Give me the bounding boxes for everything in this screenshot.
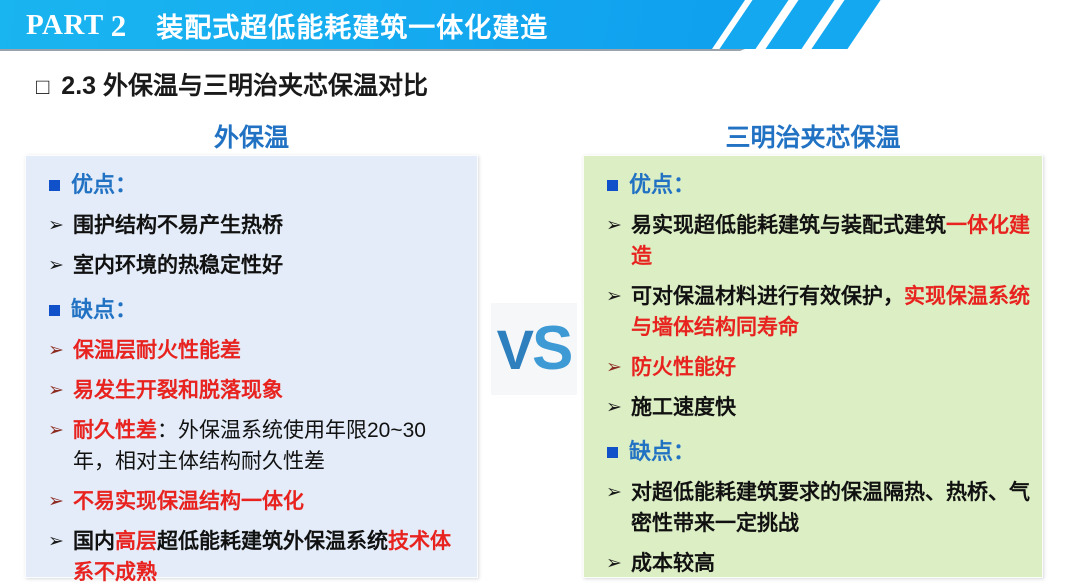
text-segment: 成本较高 <box>631 552 715 575</box>
list-item-text: 施工速度快 <box>631 392 736 423</box>
page-header: PART 2 装配式超低能耗建筑一体化建造 <box>0 0 1080 50</box>
arrow-bullet-icon: ➢ <box>605 392 623 423</box>
list-item-text: 易发生开裂和脱落现象 <box>73 375 283 406</box>
right-comparison-panel: 优点：➢易实现超低能耗建筑与装配式建筑一体化建造➢可对保温材料进行有效保护，实现… <box>583 155 1043 578</box>
group-heading-row: 优点： <box>38 170 467 200</box>
list-item-text: 保温层耐火性能差 <box>73 335 241 366</box>
group-heading-row: 缺点： <box>38 295 467 325</box>
list-item-text: 对超低能耗建筑要求的保温隔热、热桥、气密性带来一定挑战 <box>631 477 1032 539</box>
text-segment: 围护结构不易产生热桥 <box>73 214 283 237</box>
list-item-text: 室内环境的热稳定性好 <box>73 250 283 281</box>
list-item: ➢成本较高 <box>596 548 1032 579</box>
text-segment: 超低能耗建筑外保温系统 <box>157 530 388 553</box>
group-heading-label: 缺点： <box>629 437 695 467</box>
versus-badge: VS <box>491 303 577 395</box>
arrow-bullet-icon: ➢ <box>47 486 65 517</box>
versus-label: VS <box>497 318 572 380</box>
arrow-bullet-icon: ➢ <box>605 210 623 241</box>
list-item-text: 成本较高 <box>631 548 715 579</box>
part-number: 2 <box>111 8 127 44</box>
text-segment: 对超低能耗建筑要求的保温隔热、热桥、气密性带来一定挑战 <box>631 481 1030 535</box>
text-segment: 保温层耐火性能差 <box>73 339 241 362</box>
list-item-text: 可对保温材料进行有效保护，实现保温系统与墙体结构同寿命 <box>631 281 1032 343</box>
square-bullet-icon <box>49 305 60 316</box>
header-title-text: 装配式超低能耗建筑一体化建造 <box>156 6 548 45</box>
section-heading: □2.3 外保温与三明治夹芯保温对比 <box>36 66 428 102</box>
group-heading-label: 缺点： <box>71 295 137 325</box>
header-stripes-decoration <box>716 0 896 49</box>
square-bullet-icon <box>607 180 618 191</box>
list-item: ➢对超低能耗建筑要求的保温隔热、热桥、气密性带来一定挑战 <box>596 477 1032 539</box>
part-label: PART <box>26 9 104 42</box>
group-heading-label: 优点： <box>629 170 695 200</box>
list-item: ➢耐久性差：外保温系统使用年限20~30年，相对主体结构耐久性差 <box>38 415 467 477</box>
text-segment: 室内环境的热稳定性好 <box>73 254 283 277</box>
text-segment: 防火性能好 <box>631 356 736 379</box>
group-heading-label: 优点： <box>71 170 137 200</box>
text-segment: 国内 <box>73 530 115 553</box>
arrow-bullet-icon: ➢ <box>605 477 623 508</box>
text-segment: 易实现超低能耗建筑与装配式建筑 <box>631 214 946 237</box>
list-item-text: 围护结构不易产生热桥 <box>73 210 283 241</box>
list-item: ➢保温层耐火性能差 <box>38 335 467 366</box>
header-title-group: PART 2 装配式超低能耗建筑一体化建造 <box>26 3 548 48</box>
list-item: ➢防火性能好 <box>596 352 1032 383</box>
arrow-bullet-icon: ➢ <box>605 352 623 383</box>
text-segment: 可对保温材料进行有效保护， <box>631 285 904 308</box>
arrow-bullet-icon: ➢ <box>47 415 65 446</box>
list-item: ➢施工速度快 <box>596 392 1032 423</box>
list-item-text: 耐久性差：外保温系统使用年限20~30年，相对主体结构耐久性差 <box>73 415 467 477</box>
list-item: ➢易发生开裂和脱落现象 <box>38 375 467 406</box>
text-segment: 不易实现保温结构一体化 <box>73 490 304 513</box>
arrow-bullet-icon: ➢ <box>47 210 65 241</box>
text-segment: 耐久性差 <box>73 419 157 442</box>
arrow-bullet-icon: ➢ <box>605 548 623 579</box>
arrow-bullet-icon: ➢ <box>47 335 65 366</box>
section-title-text: 2.3 外保温与三明治夹芯保温对比 <box>61 72 428 100</box>
group-heading-row: 缺点： <box>596 437 1032 467</box>
list-item: ➢可对保温材料进行有效保护，实现保温系统与墙体结构同寿命 <box>596 281 1032 343</box>
list-item-text: 不易实现保温结构一体化 <box>73 486 304 517</box>
list-item-text: 防火性能好 <box>631 352 736 383</box>
text-segment: 易发生开裂和脱落现象 <box>73 379 283 402</box>
list-item: ➢易实现超低能耗建筑与装配式建筑一体化建造 <box>596 210 1032 272</box>
arrow-bullet-icon: ➢ <box>47 526 65 557</box>
text-segment: 施工速度快 <box>631 396 736 419</box>
left-comparison-panel: 优点：➢围护结构不易产生热桥➢室内环境的热稳定性好缺点：➢保温层耐火性能差➢易发… <box>25 155 478 578</box>
list-item: ➢室内环境的热稳定性好 <box>38 250 467 281</box>
group-heading-row: 优点： <box>596 170 1032 200</box>
arrow-bullet-icon: ➢ <box>47 250 65 281</box>
left-column-title: 外保温 <box>25 118 478 154</box>
list-item: ➢国内高层超低能耗建筑外保温系统技术体系不成熟 <box>38 526 467 588</box>
list-item: ➢不易实现保温结构一体化 <box>38 486 467 517</box>
square-bullet-icon <box>607 447 618 458</box>
arrow-bullet-icon: ➢ <box>47 375 65 406</box>
list-item-text: 国内高层超低能耗建筑外保温系统技术体系不成熟 <box>73 526 467 588</box>
arrow-bullet-icon: ➢ <box>605 281 623 312</box>
text-segment: 高层 <box>115 530 157 553</box>
right-column-title: 三明治夹芯保温 <box>583 118 1043 154</box>
section-bullet-icon: □ <box>36 74 49 99</box>
list-item-text: 易实现超低能耗建筑与装配式建筑一体化建造 <box>631 210 1032 272</box>
square-bullet-icon <box>49 180 60 191</box>
header-underline <box>0 49 745 51</box>
list-item: ➢围护结构不易产生热桥 <box>38 210 467 241</box>
